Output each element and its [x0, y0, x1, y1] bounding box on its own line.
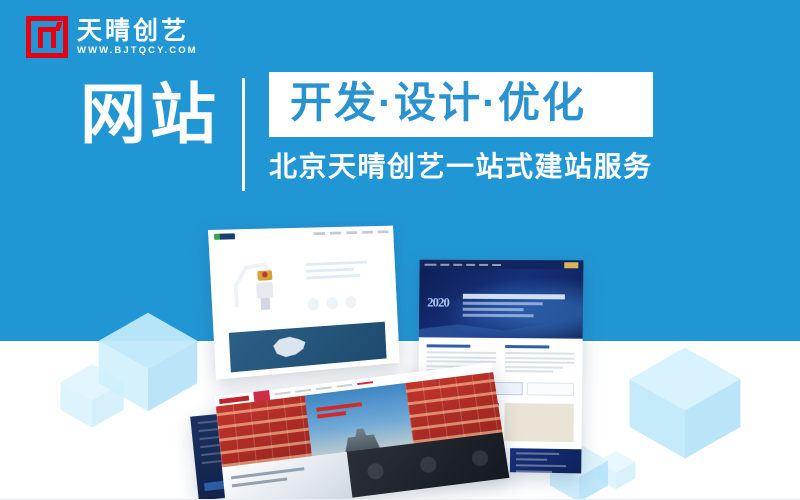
robot-arm-icon — [227, 254, 287, 316]
mockup-b-hero-year: 2020 — [427, 295, 449, 311]
china-map-shape — [269, 334, 309, 360]
mockup-a-logo-icon — [214, 233, 235, 240]
headline-right-column: 开发·设计·优化 北京天晴创艺一站式建站服务 — [269, 72, 653, 184]
website-design-mockups: 2020 — [180, 218, 620, 500]
mockup-red-gate-culture-site — [215, 363, 510, 500]
website-service-banner: 天晴创艺 WWW.BJTQCY.COM 网站 开发·设计·优化 北京天晴创艺一站… — [0, 0, 800, 500]
cube-right-large — [622, 340, 748, 466]
mockup-b-hero: 2020 — [419, 269, 584, 339]
mockup-medical-robot-site — [208, 226, 400, 380]
mockup-b-hero-title-lines — [463, 294, 565, 321]
tagline-box: 开发·设计·优化 — [269, 72, 653, 137]
brand-logo[interactable]: 天晴创艺 WWW.BJTQCY.COM — [26, 16, 198, 58]
logo-text-block: 天晴创艺 WWW.BJTQCY.COM — [77, 18, 198, 57]
logo-website-url: WWW.BJTQCY.COM — [77, 45, 198, 57]
headline-subtitle: 北京天晴创艺一站式建站服务 — [269, 150, 653, 184]
tianqing-chuangyi-logo-mark-icon — [26, 16, 68, 58]
headline-block: 网站 开发·设计·优化 北京天晴创艺一站式建站服务 — [80, 72, 653, 191]
mockup-a-hero — [209, 238, 398, 327]
headline-divider — [242, 78, 245, 191]
page-title: 网站 — [80, 72, 220, 156]
tagline-text: 开发·设计·优化 — [290, 79, 632, 127]
logo-company-name: 天晴创艺 — [77, 18, 198, 45]
